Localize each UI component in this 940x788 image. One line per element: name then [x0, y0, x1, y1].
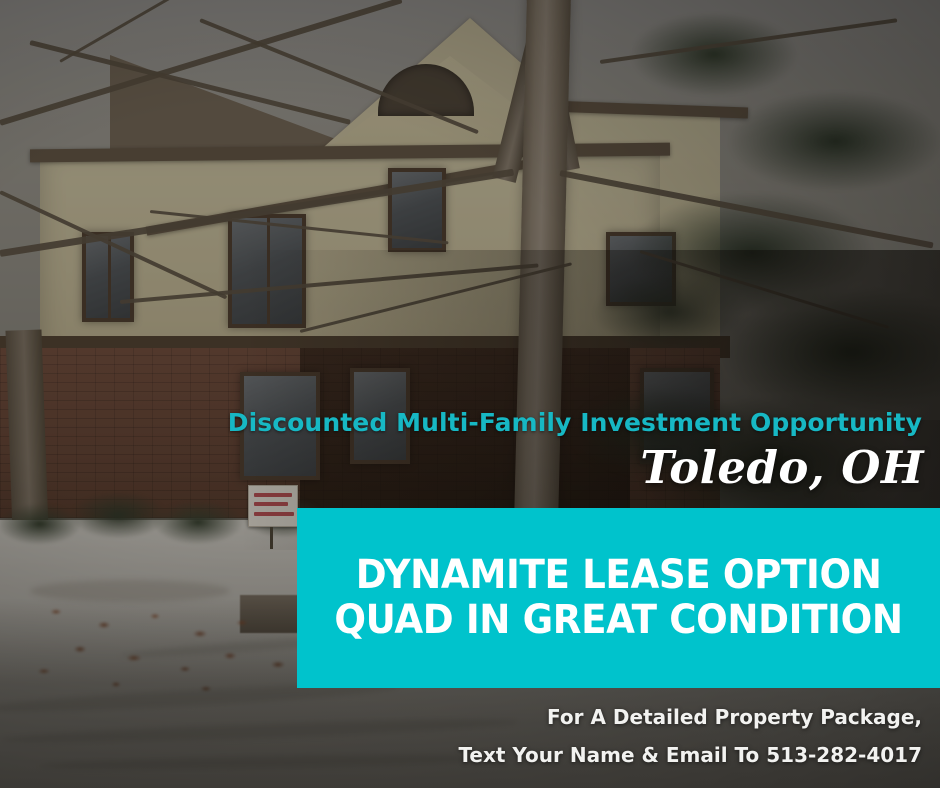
text-legibility-gradient-right	[240, 250, 940, 550]
ad-subtitle: Discounted Multi-Family Investment Oppor…	[0, 408, 922, 437]
contact-call-to-action: For A Detailed Property Package,	[547, 705, 922, 729]
real-estate-ad-graphic: Discounted Multi-Family Investment Oppor…	[0, 0, 940, 788]
headline-line-1: DYNAMITE LEASE OPTION	[356, 553, 882, 598]
headline-line-2: QUAD IN GREAT CONDITION	[334, 598, 902, 643]
headline-banner: DYNAMITE LEASE OPTION QUAD IN GREAT COND…	[297, 508, 940, 688]
ad-city-location: Toledo, OH	[0, 441, 924, 494]
contact-phone-instruction: Text Your Name & Email To 513-282-4017	[458, 743, 922, 767]
